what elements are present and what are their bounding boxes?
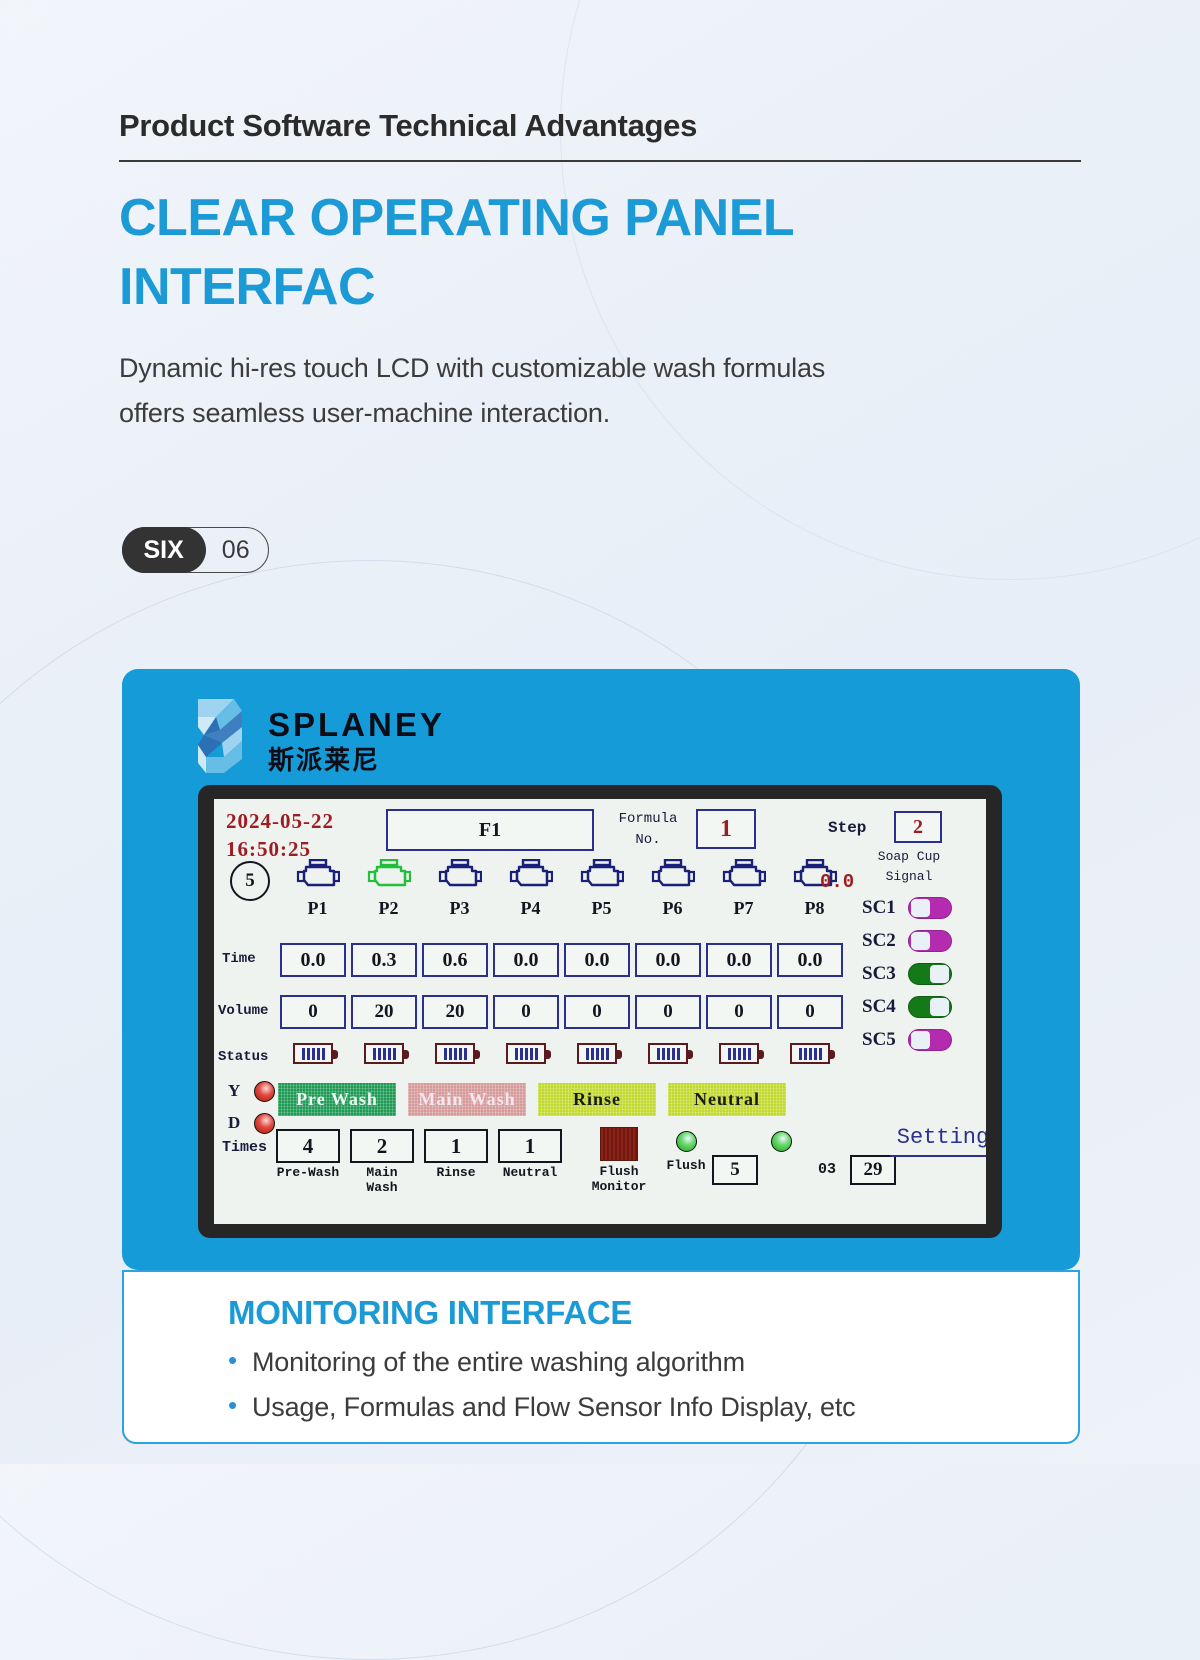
- indicator-led-icon: [254, 1081, 275, 1102]
- soap-cup-toggle[interactable]: [908, 897, 952, 919]
- status-cell: [635, 1043, 701, 1064]
- lcd-bezel: 2024-05-22 16:50:25 F1 Formula No. 1 Ste…: [198, 785, 1002, 1238]
- flush-box-value: 5: [730, 1159, 740, 1181]
- status-row-label: Status: [218, 1049, 268, 1065]
- soap-cup-row-sc2[interactable]: SC2: [862, 924, 952, 957]
- flush-led-col-2: [758, 1129, 804, 1152]
- device-panel: SPLANEY 斯派莱尼 2024-05-22 16:50:25 F1 Form…: [122, 669, 1080, 1270]
- pump-icon: [438, 878, 482, 895]
- toggle-knob: [930, 965, 949, 983]
- volume-cell[interactable]: 0: [777, 995, 843, 1029]
- flush-total-field[interactable]: 29: [850, 1155, 896, 1185]
- pump-p5[interactable]: P5: [566, 859, 637, 919]
- brand-text: SPLANEY 斯派莱尼: [268, 708, 445, 775]
- volume-cell[interactable]: 20: [351, 995, 417, 1029]
- time-row-label: Time: [222, 951, 256, 967]
- phase-button-row: Pre WashMain WashRinseNeutral: [278, 1083, 786, 1116]
- toggle-knob: [930, 998, 949, 1016]
- page-header: Product Software Technical Advantages CL…: [119, 108, 1081, 436]
- pump-label: P8: [779, 898, 850, 919]
- times-column: 1Neutral: [498, 1129, 562, 1196]
- times-field[interactable]: 1: [498, 1129, 562, 1163]
- page-subtitle: Dynamic hi-res touch LCD with customizab…: [119, 346, 1081, 436]
- flush-monitor-label-line2: Monitor: [582, 1180, 656, 1195]
- formula-name-field[interactable]: F1: [386, 809, 594, 851]
- volume-row: 0202000000: [280, 995, 843, 1029]
- flush-monitor-indicator: [600, 1127, 638, 1161]
- pump-label: P7: [708, 898, 779, 919]
- soap-cup-toggle[interactable]: [908, 1029, 952, 1051]
- battery-icon: [790, 1043, 830, 1064]
- badge-word: SIX: [122, 527, 206, 573]
- battery-icon: [648, 1043, 688, 1064]
- pump-p7[interactable]: P7: [708, 859, 779, 919]
- time-cell[interactable]: 0.0: [777, 943, 843, 977]
- volume-cell[interactable]: 0: [564, 995, 630, 1029]
- toggle-knob: [911, 899, 930, 917]
- soap-cup-label-line2: Signal: [854, 867, 964, 887]
- indicator-label: Y: [228, 1081, 254, 1101]
- page-title: CLEAR OPERATING PANEL INTERFAC: [119, 184, 1081, 322]
- toggle-knob: [911, 1031, 930, 1049]
- flush-monitor-label-line1: Flush: [582, 1165, 656, 1180]
- pump-icon: [296, 878, 340, 895]
- status-cell: [493, 1043, 559, 1064]
- time-cell[interactable]: 0.3: [351, 943, 417, 977]
- time-cell[interactable]: 0.6: [422, 943, 488, 977]
- page-kicker: Product Software Technical Advantages: [119, 108, 1081, 144]
- times-label: Times: [222, 1139, 267, 1156]
- status-cell: [422, 1043, 488, 1064]
- times-field[interactable]: 2: [350, 1129, 414, 1163]
- step-circle-indicator: 5: [230, 861, 270, 901]
- caption-card: MONITORING INTERFACE Monitoring of the e…: [122, 1270, 1080, 1444]
- step-label: Step: [828, 819, 866, 837]
- pump-label: P3: [424, 898, 495, 919]
- flush-count: 03: [818, 1161, 836, 1178]
- time-cell[interactable]: 0.0: [493, 943, 559, 977]
- date-value: 2024-05-22: [226, 807, 334, 835]
- splaney-logo-icon: [194, 697, 246, 775]
- pump-icon: [651, 878, 695, 895]
- pump-label: P1: [282, 898, 353, 919]
- phase-button-main-wash[interactable]: Main Wash: [408, 1083, 526, 1116]
- soap-cup-label-line1: Soap Cup: [854, 847, 964, 867]
- setting-label: Setting: [897, 1125, 986, 1150]
- volume-cell[interactable]: 20: [422, 995, 488, 1029]
- battery-icon: [293, 1043, 333, 1064]
- pump-label: P4: [495, 898, 566, 919]
- section-number-badge: SIX 06: [122, 527, 269, 573]
- pump-icon: [722, 878, 766, 895]
- soap-cup-row-sc5[interactable]: SC5: [862, 1023, 952, 1056]
- phase-button-neutral[interactable]: Neutral: [668, 1083, 786, 1116]
- flush-led: [676, 1131, 697, 1152]
- flush-led-col: Flush: [660, 1129, 712, 1173]
- badge-number: 06: [206, 536, 250, 565]
- times-field[interactable]: 1: [424, 1129, 488, 1163]
- volume-cell[interactable]: 0: [706, 995, 772, 1029]
- brand-lockup: SPLANEY 斯派莱尼: [194, 697, 445, 775]
- caption-bullet: Usage, Formulas and Flow Sensor Info Dis…: [228, 1385, 1078, 1430]
- times-row: 4Pre-Wash2MainWash1Rinse1Neutral: [276, 1129, 562, 1196]
- soap-cup-row-sc4[interactable]: SC4: [862, 990, 952, 1023]
- soap-cup-row-sc3[interactable]: SC3: [862, 957, 952, 990]
- pump-icon: [367, 878, 411, 895]
- times-column: 4Pre-Wash: [276, 1129, 340, 1196]
- setting-button[interactable]: Setting: [890, 1125, 986, 1157]
- step-value: 2: [913, 816, 923, 839]
- formula-no-label-line1: Formula: [606, 809, 690, 830]
- caption-bullet: Monitoring of the entire washing algorit…: [228, 1340, 1078, 1385]
- volume-cell[interactable]: 0: [280, 995, 346, 1029]
- status-row: [280, 1043, 843, 1064]
- pump-p6[interactable]: P6: [637, 859, 708, 919]
- caption-title: MONITORING INTERFACE: [228, 1294, 1078, 1332]
- soap-cup-row-sc1[interactable]: SC1: [862, 891, 952, 924]
- soap-cup-label: SC3: [862, 963, 908, 985]
- page-subtitle-line1: Dynamic hi-res touch LCD with customizab…: [119, 346, 1081, 391]
- indicator-led-icon: [254, 1113, 275, 1134]
- soap-cup-toggle-list: SC1SC2SC3SC4SC5: [862, 891, 952, 1056]
- flush-group: Flush 5 03 29: [660, 1129, 896, 1185]
- pump-icon: [580, 878, 624, 895]
- volume-row-label: Volume: [218, 1003, 268, 1019]
- indicator-y: Y: [228, 1075, 275, 1107]
- pump-p1[interactable]: P1: [282, 859, 353, 919]
- volume-cell[interactable]: 0: [635, 995, 701, 1029]
- indicator-label: D: [228, 1113, 254, 1133]
- brand-name-cn: 斯派莱尼: [268, 747, 445, 773]
- flush-led-2: [771, 1131, 792, 1152]
- volume-cell[interactable]: 0: [493, 995, 559, 1029]
- status-cell: [706, 1043, 772, 1064]
- battery-icon: [577, 1043, 617, 1064]
- flush-monitor-group: Flush Monitor: [582, 1127, 656, 1195]
- formula-no-field[interactable]: 1: [696, 809, 756, 849]
- times-caption: MainWash: [350, 1166, 414, 1196]
- lcd-screen[interactable]: 2024-05-22 16:50:25 F1 Formula No. 1 Ste…: [214, 799, 986, 1224]
- pump-label: P2: [353, 898, 424, 919]
- soap-cup-signal-label: Soap Cup Signal: [854, 847, 964, 887]
- pump-row: P1P2P3P4P5P6P7P8: [282, 859, 850, 919]
- times-caption: Pre-Wash: [276, 1166, 340, 1181]
- time-cell[interactable]: 0.0: [706, 943, 772, 977]
- soap-cup-toggle[interactable]: [908, 963, 952, 985]
- soap-cup-label: SC1: [862, 897, 908, 919]
- flow-rate-value: 0.0: [820, 871, 854, 893]
- formula-no-label-line2: No.: [606, 830, 690, 851]
- formula-name-value: F1: [479, 819, 501, 842]
- pump-p2[interactable]: P2: [353, 859, 424, 919]
- flush-box-field[interactable]: 5: [712, 1155, 758, 1185]
- formula-no-value: 1: [720, 816, 732, 843]
- phase-button-rinse[interactable]: Rinse: [538, 1083, 656, 1116]
- times-caption: Rinse: [424, 1166, 488, 1181]
- header-divider: [119, 160, 1081, 162]
- brand-name: SPLANEY: [268, 708, 445, 741]
- battery-icon: [364, 1043, 404, 1064]
- pump-label: P5: [566, 898, 637, 919]
- indicator-d: D: [228, 1107, 275, 1139]
- times-column: 1Rinse: [424, 1129, 488, 1196]
- page-title-line1: CLEAR OPERATING PANEL: [119, 184, 1081, 253]
- time-row: 0.00.30.60.00.00.00.00.0: [280, 943, 843, 977]
- page-subtitle-line2: offers seamless user-machine interaction…: [119, 391, 1081, 436]
- flush-total-value: 29: [864, 1159, 883, 1181]
- formula-no-label: Formula No.: [606, 809, 690, 851]
- pump-label: P6: [637, 898, 708, 919]
- soap-cup-toggle[interactable]: [908, 930, 952, 952]
- toggle-knob: [911, 932, 930, 950]
- battery-icon: [435, 1043, 475, 1064]
- time-cell[interactable]: 0.0: [280, 943, 346, 977]
- page-title-line2: INTERFAC: [119, 253, 1081, 322]
- status-cell: [351, 1043, 417, 1064]
- soap-cup-toggle[interactable]: [908, 996, 952, 1018]
- step-field[interactable]: 2: [894, 811, 942, 843]
- soap-cup-label: SC2: [862, 930, 908, 952]
- soap-cup-label: SC4: [862, 996, 908, 1018]
- status-cell: [564, 1043, 630, 1064]
- datetime-display: 2024-05-22 16:50:25: [226, 807, 334, 864]
- status-cell: [777, 1043, 843, 1064]
- battery-icon: [719, 1043, 759, 1064]
- indicator-led-group: YD: [228, 1075, 275, 1139]
- time-cell[interactable]: 0.0: [635, 943, 701, 977]
- step-circle-value: 5: [245, 870, 255, 892]
- pump-p4[interactable]: P4: [495, 859, 566, 919]
- flush-monitor-label: Flush Monitor: [582, 1165, 656, 1195]
- pump-icon: [509, 878, 553, 895]
- phase-button-pre-wash[interactable]: Pre Wash: [278, 1083, 396, 1116]
- caption-bullet-list: Monitoring of the entire washing algorit…: [228, 1340, 1078, 1431]
- times-field[interactable]: 4: [276, 1129, 340, 1163]
- flush-label: Flush: [660, 1158, 712, 1173]
- soap-cup-label: SC5: [862, 1029, 908, 1051]
- times-column: 2MainWash: [350, 1129, 414, 1196]
- time-cell[interactable]: 0.0: [564, 943, 630, 977]
- battery-icon: [506, 1043, 546, 1064]
- status-cell: [280, 1043, 346, 1064]
- pump-p3[interactable]: P3: [424, 859, 495, 919]
- times-caption: Neutral: [498, 1166, 562, 1181]
